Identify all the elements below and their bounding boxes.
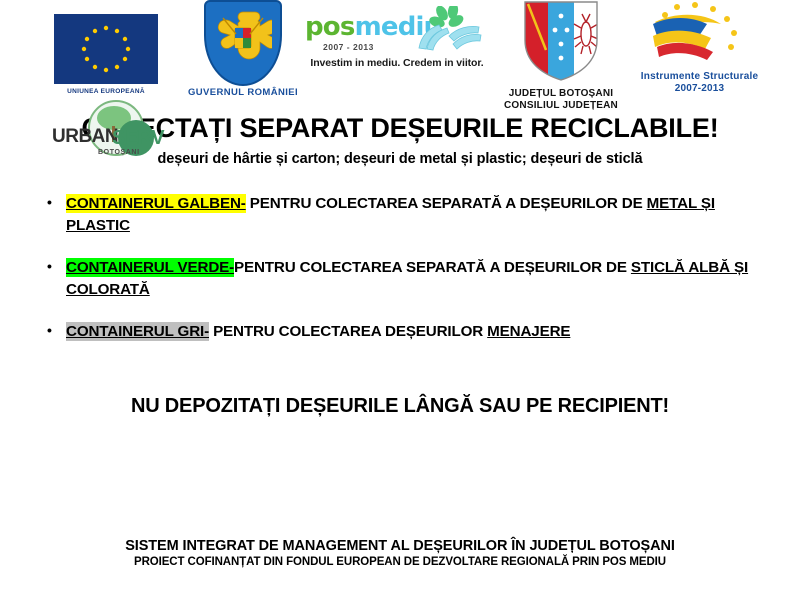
container-list: CONTAINERUL GALBEN- PENTRU COLECTAREA SE… bbox=[0, 193, 800, 343]
footer-project-title: SISTEM INTEGRAT DE MANAGEMENT AL DEȘEURI… bbox=[0, 538, 800, 554]
eu-flag-icon bbox=[54, 14, 158, 84]
container-green-text: PENTRU COLECTAREA SEPARATĂ A DEȘEURILOR … bbox=[234, 259, 627, 276]
european-union-flag-logo: UNIUNEA EUROPEANĂ bbox=[48, 14, 164, 95]
container-green-label: CONTAINERUL VERDE- bbox=[66, 258, 234, 277]
pos-mediu-years: 2007 - 2013 bbox=[323, 42, 374, 52]
structural-instruments-icon bbox=[635, 2, 765, 66]
urban-serv-mark-icon: URBAN SERV BOTOȘANI bbox=[44, 100, 184, 162]
warning-text: NU DEPOZITAȚI DEȘEURILE LÂNGĂ SAU PE REC… bbox=[0, 395, 800, 418]
hands-leaf-icon bbox=[413, 6, 485, 52]
container-yellow-text: PENTRU COLECTAREA SEPARATĂ A DEȘEURILOR … bbox=[246, 195, 643, 212]
container-gray-text: PENTRU COLECTAREA DEȘEURILOR bbox=[209, 323, 487, 340]
pos-mediu-tagline: Investim in mediu. Credem in viitor. bbox=[303, 57, 491, 69]
is-caption-line2: 2007-2013 bbox=[612, 83, 787, 95]
eu-stars-icon bbox=[54, 14, 158, 84]
pos-mediu-wordmark: posmediu 2007 - 2013 bbox=[303, 6, 491, 56]
urban-serv-logo: URBAN SERV BOTOȘANI bbox=[44, 100, 184, 162]
container-gray-underlined: MENAJERE bbox=[487, 323, 570, 340]
government-caption: GUVERNUL ROMÂNIEI bbox=[168, 87, 318, 98]
urbanserv-word-part2: SERV bbox=[112, 127, 165, 149]
footer: SISTEM INTEGRAT DE MANAGEMENT AL DEȘEURI… bbox=[0, 538, 800, 568]
container-gray-label: CONTAINERUL GRI- bbox=[66, 322, 209, 341]
logo-bar: UNIUNEA EUROPEANĂ GUVERNUL ROMÂNIEI posm… bbox=[0, 0, 800, 95]
container-yellow-label: CONTAINERUL GALBEN- bbox=[66, 194, 246, 213]
pos-word-part1: pos bbox=[305, 12, 355, 42]
eu-caption: UNIUNEA EUROPEANĂ bbox=[48, 88, 164, 95]
county-coat-of-arms-icon bbox=[522, 0, 600, 82]
romanian-eagle-icon bbox=[214, 8, 272, 72]
romania-shield-icon bbox=[204, 0, 282, 86]
urbanserv-subcaption: BOTOȘANI bbox=[98, 149, 140, 156]
instrumente-structurale-logo: Instrumente Structurale 2007-2013 bbox=[612, 2, 787, 95]
list-item: CONTAINERUL GALBEN- PENTRU COLECTAREA SE… bbox=[0, 193, 800, 236]
urbanserv-word-part1: URBAN bbox=[52, 126, 118, 147]
list-item: CONTAINERUL VERDE-PENTRU COLECTAREA SEPA… bbox=[0, 257, 800, 300]
footer-funding-note: PROIECT COFINANȚAT DIN FONDUL EUROPEAN D… bbox=[0, 556, 800, 568]
structural-instruments-caption: Instrumente Structurale 2007-2013 bbox=[612, 71, 787, 95]
romanian-government-logo: GUVERNUL ROMÂNIEI bbox=[168, 0, 318, 98]
list-item: CONTAINERUL GRI- PENTRU COLECTAREA DEȘEU… bbox=[0, 321, 800, 343]
county-caption-line2: CONSILIUL JUDEȚEAN bbox=[486, 100, 636, 112]
pos-mediu-logo: posmediu 2007 - 2013 Investim in mediu. … bbox=[303, 6, 491, 69]
is-caption-line1: Instrumente Structurale bbox=[612, 71, 787, 83]
